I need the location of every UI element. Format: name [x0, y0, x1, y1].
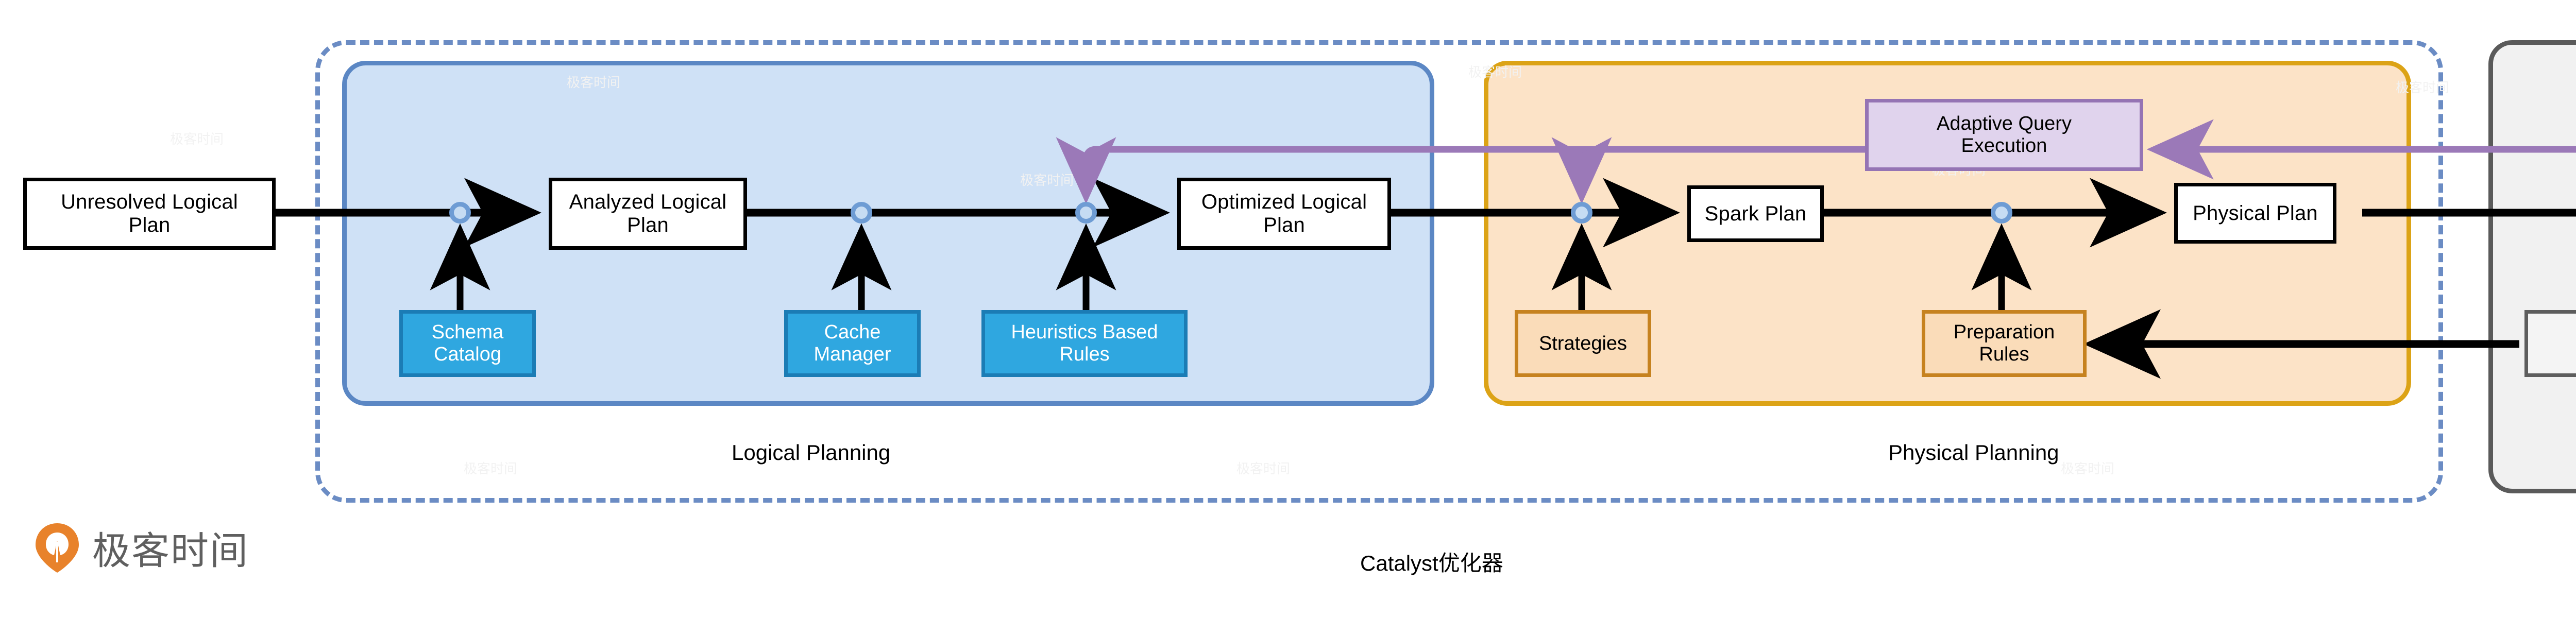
plan-label-line2: Plan: [27, 214, 272, 237]
rule-label-line2: Catalog: [434, 344, 501, 365]
brand-logo: 极客时间: [33, 520, 249, 575]
rule-box-heuristics-based-rules[interactable]: Heuristics Based Rules: [981, 310, 1188, 377]
rule-box-schema-catalog[interactable]: Schema Catalog: [399, 310, 536, 377]
plan-box-optimized-logical-plan[interactable]: Optimized Logical Plan: [1177, 178, 1391, 250]
rule-label-line2: Rules: [1059, 344, 1109, 365]
rule-label-line1: Strategies: [1539, 333, 1627, 354]
rule-box-whole-stage-code-generation[interactable]: Whole Stage Code Generation: [2524, 310, 2576, 377]
caption-catalyst-optimizer: Catalyst优化器: [1360, 546, 1503, 577]
rule-box-adaptive-query-execution[interactable]: Adaptive Query Execution: [1865, 99, 2143, 171]
diagram-canvas: 极客时间 极客时间 极客时间 极客时间 极客时间 极客时间 极客时间 极客时间 …: [0, 0, 2576, 618]
plan-label-line1: Analyzed Logical: [552, 191, 743, 214]
plan-label-line2: Plan: [1181, 214, 1387, 237]
join-node-heuristics-rules: [1075, 202, 1097, 224]
rule-box-cache-manager[interactable]: Cache Manager: [784, 310, 921, 377]
rule-label-line2: Execution: [1961, 135, 2047, 157]
join-node-schema-catalog: [449, 202, 471, 224]
plan-label-line1: Physical Plan: [2178, 202, 2333, 225]
rule-box-strategies[interactable]: Strategies: [1515, 310, 1651, 377]
rule-label-line1: Preparation: [1954, 321, 2055, 343]
caption-logical-planning: Logical Planning: [732, 440, 890, 465]
join-node-cache-manager: [851, 202, 872, 224]
plan-label-line2: Plan: [552, 214, 743, 237]
plan-label-line1: Unresolved Logical: [27, 191, 272, 214]
plan-box-unresolved-logical-plan[interactable]: Unresolved Logical Plan: [23, 178, 276, 250]
plan-box-spark-plan[interactable]: Spark Plan: [1687, 185, 1824, 242]
geektime-pin-icon: [33, 522, 81, 574]
rule-label-line1: Cache: [824, 321, 881, 343]
brand-name: 极客时间: [92, 520, 249, 575]
plan-label-line1: Optimized Logical: [1181, 191, 1387, 214]
rule-label-line1: Adaptive Query: [1937, 113, 2072, 134]
rule-label-line2: Rules: [1979, 344, 2029, 365]
plan-box-physical-plan[interactable]: Physical Plan: [2174, 183, 2336, 244]
rule-box-preparation-rules[interactable]: Preparation Rules: [1922, 310, 2087, 377]
connector-layer: [0, 0, 2576, 618]
join-node-strategies: [1571, 202, 1592, 224]
plan-label-line1: Spark Plan: [1691, 202, 1820, 226]
plan-box-analyzed-logical-plan[interactable]: Analyzed Logical Plan: [549, 178, 747, 250]
rule-label-line1: Heuristics Based: [1011, 321, 1158, 343]
join-node-preparation-rules: [1991, 202, 2012, 224]
rule-label-line2: Manager: [814, 344, 891, 365]
rule-label-line1: Schema: [432, 321, 503, 343]
caption-physical-planning: Physical Planning: [1888, 440, 2059, 465]
